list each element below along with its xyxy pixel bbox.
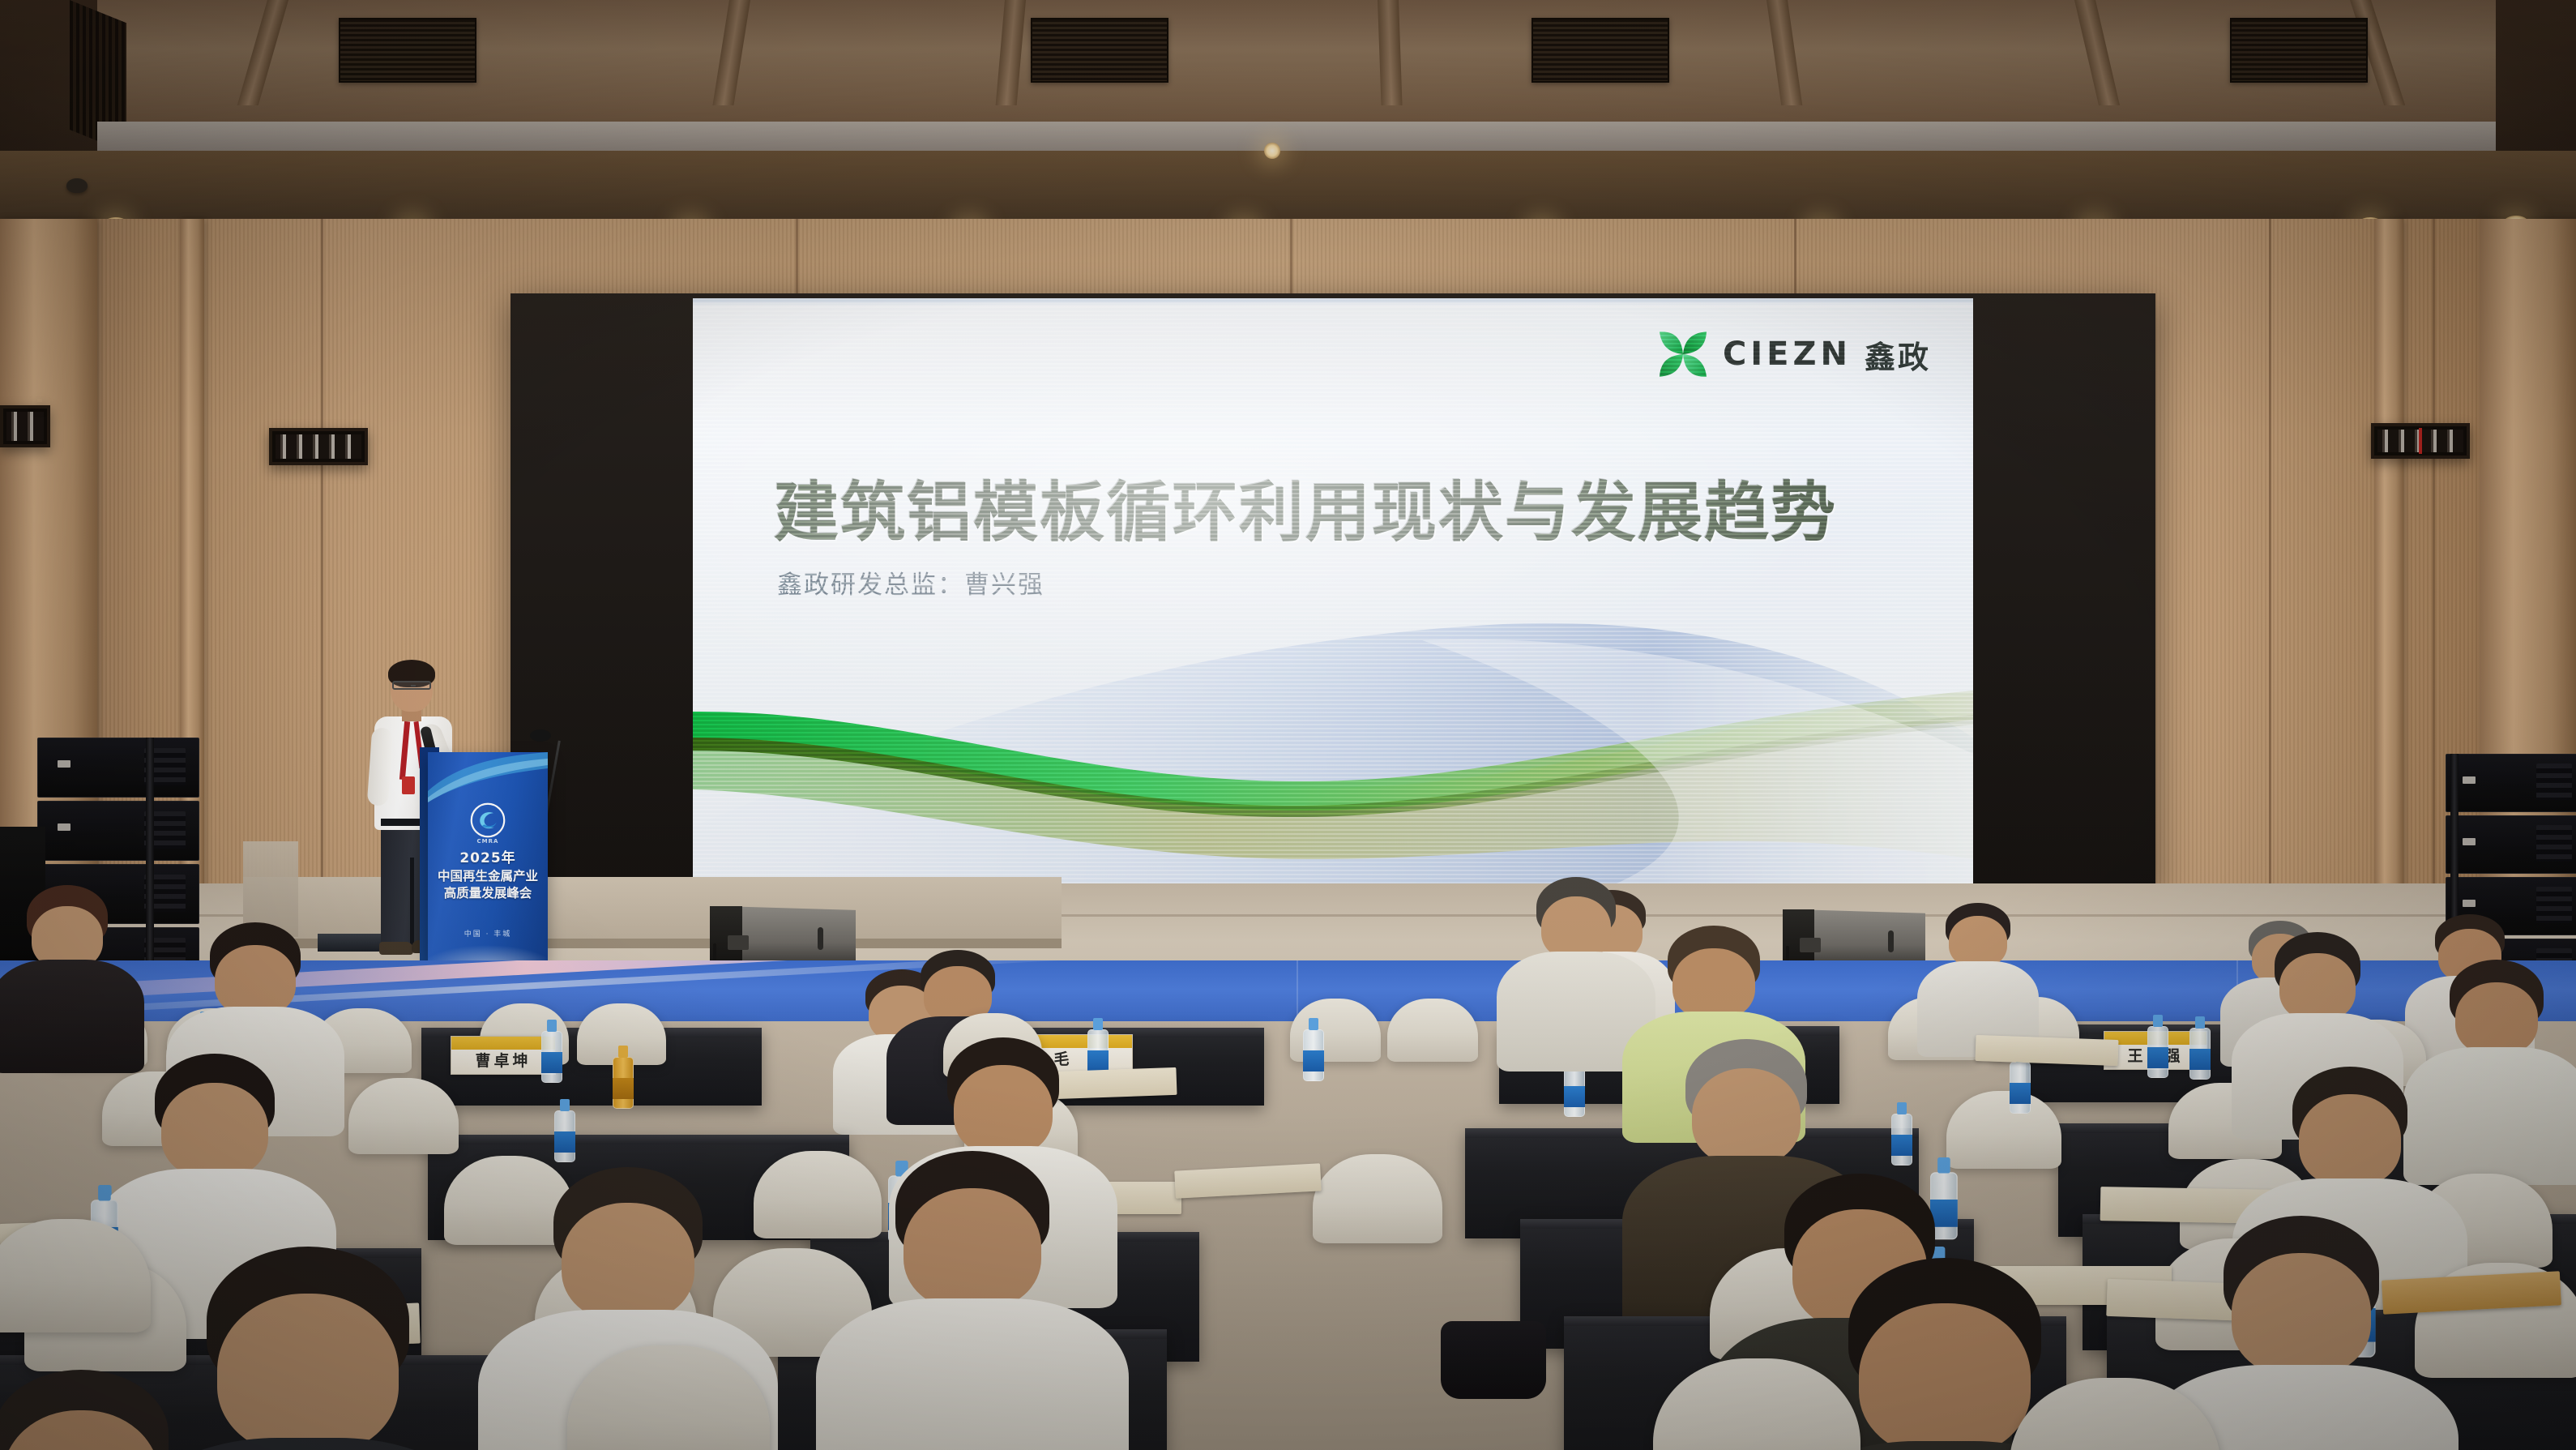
wall-camera bbox=[37, 399, 42, 402]
chair bbox=[1387, 999, 1478, 1062]
slide-wave-graphic bbox=[693, 616, 1973, 883]
name-card: 曹卓坤 bbox=[451, 1036, 556, 1075]
ceiling bbox=[0, 0, 2576, 243]
audience-person-foreground bbox=[0, 1370, 186, 1450]
chair bbox=[1946, 1091, 2061, 1169]
slide-logo-wordmark: CIEZN bbox=[1723, 336, 1852, 373]
podium-bottom-glow bbox=[428, 929, 548, 961]
wall-vent-fixture bbox=[0, 405, 50, 447]
podium-lectern: CMRA 2025年 中国再生金属产业 高质量发展峰会 中国 · 丰城 bbox=[428, 752, 548, 961]
gooseneck-microphone-head bbox=[530, 729, 551, 742]
cmra-logo-caption: CMRA bbox=[477, 838, 499, 845]
podium-line-industry: 中国再生金属产业 bbox=[428, 868, 548, 885]
presenter-shoe-left bbox=[379, 942, 413, 955]
presenter-leg-split bbox=[410, 858, 414, 945]
notepad bbox=[1975, 1035, 2118, 1066]
slide-title: 建筑铝模板循环利用现状与发展趋势 bbox=[774, 460, 1925, 554]
ceiling-vent-grille bbox=[1532, 18, 1669, 83]
led-video-wall[interactable]: CIEZN 鑫政 建筑铝模板循环利用现状与发展趋势 鑫政研发总监：曹兴强 bbox=[693, 298, 1973, 883]
audience-person bbox=[2436, 960, 2557, 1170]
audience-person bbox=[1933, 903, 2023, 1049]
ceiling-vent-grille bbox=[2230, 18, 2368, 83]
wall-vent-fixture bbox=[2371, 423, 2470, 459]
ceiling-smoke-detector bbox=[1264, 143, 1280, 159]
audience-person bbox=[1523, 877, 1629, 1063]
slide-subtitle: 鑫政研发总监：曹兴强 bbox=[777, 564, 1044, 601]
audience-person bbox=[875, 1151, 1070, 1450]
wall-pilaster bbox=[2374, 219, 2403, 948]
chair bbox=[1313, 1154, 1442, 1243]
ceiling-vent-grille bbox=[339, 18, 476, 83]
ceiling-beam bbox=[1378, 0, 1403, 105]
ceiling-dome-camera bbox=[66, 178, 88, 193]
conference-hall-scene: CIEZN 鑫政 建筑铝模板循环利用现状与发展趋势 鑫政研发总监：曹兴强 bbox=[0, 0, 2576, 1450]
ceiling-vent-grille bbox=[1031, 18, 1168, 83]
bag-on-floor bbox=[1441, 1321, 1546, 1399]
presenter-badge bbox=[402, 776, 415, 794]
chair bbox=[348, 1078, 459, 1154]
audience-person-foreground bbox=[186, 1247, 429, 1450]
podium-swoosh-graphic bbox=[428, 752, 548, 802]
wall-vent-fixture bbox=[269, 428, 368, 465]
ciezn-pinwheel-logo-icon bbox=[1656, 327, 1710, 381]
slide-logo-chinese-name: 鑫政 bbox=[1865, 332, 1931, 377]
chair bbox=[754, 1151, 882, 1238]
podium-event-text: 2025年 中国再生金属产业 高质量发展峰会 bbox=[428, 849, 548, 902]
screen-top-sheen bbox=[693, 298, 1973, 306]
ceiling-soffit bbox=[97, 122, 2496, 154]
glasses-icon bbox=[392, 681, 431, 690]
podium-line-summit: 高质量发展峰会 bbox=[428, 885, 548, 902]
slide-logo: CIEZN 鑫政 bbox=[1656, 327, 1931, 381]
cmra-logo-icon bbox=[470, 802, 506, 838]
podium-line-year: 2025年 bbox=[428, 849, 548, 868]
led-screen-frame: CIEZN 鑫政 建筑铝模板循环利用现状与发展趋势 鑫政研发总监：曹兴强 bbox=[511, 293, 2155, 893]
audience-person bbox=[2204, 1216, 2399, 1450]
audience-person bbox=[15, 885, 120, 1063]
